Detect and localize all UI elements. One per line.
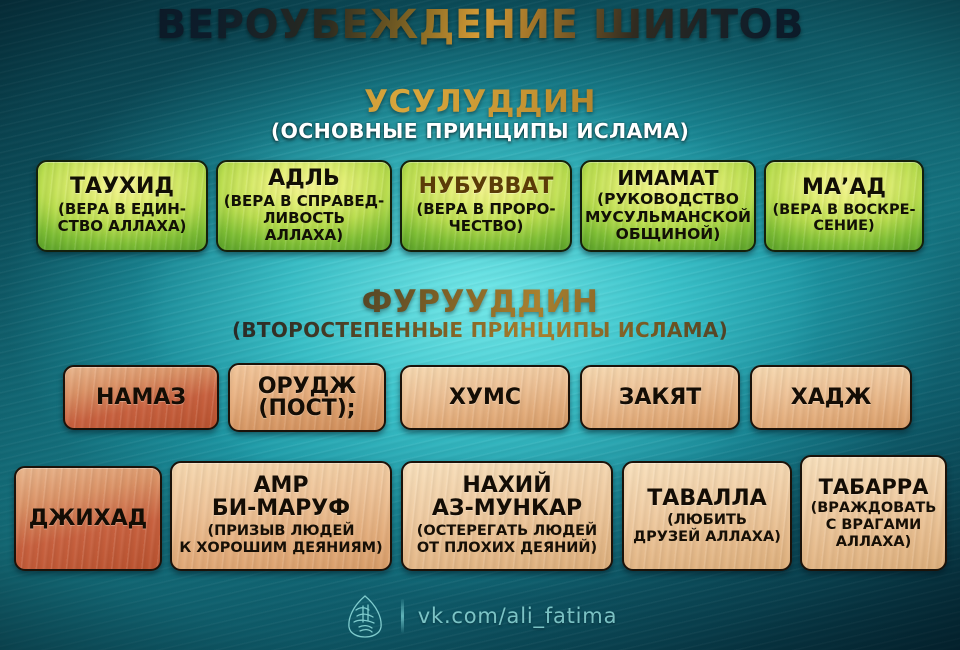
practice-box-hums[interactable]: ХУМС: [400, 365, 570, 430]
principle-detail: (ВЕРА В ВОСКРЕ- СЕНИЕ): [768, 202, 920, 235]
principle-name: ТАУХИД: [43, 176, 201, 199]
page-title: ВЕРОУБЕЖДЕНИЕ ШИИТОВ: [0, 2, 960, 48]
infographic-poster: ВЕРОУБЕЖДЕНИЕ ШИИТОВ УСУЛУДДИН (ОСНОВНЫЕ…: [0, 0, 960, 650]
practice-name: ОРУДЖ (ПОСТ);: [235, 376, 379, 420]
practice-detail: (ПРИЗЫВ ЛЮДЕЙ К ХОРОШИМ ДЕЯНИЯМ): [174, 523, 388, 557]
principle-detail: (ВЕРА В СПРАВЕД- ЛИВОСТЬ АЛЛАХА): [223, 193, 385, 244]
practice-box-tavalla[interactable]: ТАВАЛЛА (ЛЮБИТЬ ДРУЗЕЙ АЛЛАХА): [622, 461, 792, 571]
practice-name: ТАБАРРА: [804, 476, 943, 498]
practice-box-namaz[interactable]: НАМАЗ: [63, 365, 219, 430]
practice-name: ХУМС: [407, 386, 563, 409]
practice-box-amr-bi-maruf[interactable]: АМР БИ-МАРУФ (ПРИЗЫВ ЛЮДЕЙ К ХОРОШИМ ДЕЯ…: [170, 461, 392, 571]
footer-divider: [401, 599, 404, 633]
arabic-calligraphy-emblem-icon: [343, 594, 387, 638]
practice-detail: (ОСТЕРЕГАТЬ ЛЮДЕЙ ОТ ПЛОХИХ ДЕЯНИЙ): [405, 523, 609, 557]
practice-name: ХАДЖ: [757, 386, 905, 409]
principle-box-maad[interactable]: МА’АД (ВЕРА В ВОСКРЕ- СЕНИЕ): [764, 160, 924, 252]
practice-box-jihad[interactable]: ДЖИХАД: [14, 466, 162, 571]
practice-box-nahi-az-munkar[interactable]: НАХИЙ АЗ-МУНКАР (ОСТЕРЕГАТЬ ЛЮДЕЙ ОТ ПЛО…: [401, 461, 613, 571]
section-heading-furuuddin: ФУРУУДДИН: [0, 284, 960, 320]
practice-name: НАМАЗ: [70, 386, 212, 409]
practice-box-oruj[interactable]: ОРУДЖ (ПОСТ);: [228, 363, 386, 432]
practice-name: ДЖИХАД: [21, 507, 155, 530]
principle-name: МА’АД: [768, 177, 920, 200]
principle-box-nubuvvat[interactable]: НУБУВВАТ (ВЕРА В ПРОРО- ЧЕСТВО): [400, 160, 572, 252]
principle-name: АДЛЬ: [223, 168, 385, 191]
section-subheading-usuluddin: (ОСНОВНЫЕ ПРИНЦИПЫ ИСЛАМА): [0, 119, 960, 143]
section-heading-usuluddin: УСУЛУДДИН: [0, 84, 960, 120]
practice-detail: (ВРАЖДОВАТЬ С ВРАГАМИ АЛЛАХА): [804, 500, 943, 550]
section-subheading-furuuddin: (ВТОРОСТЕПЕННЫЕ ПРИНЦИПЫ ИСЛАМА): [0, 318, 960, 342]
principle-name: НУБУВВАТ: [407, 176, 565, 199]
principle-name: ИМАМАТ: [584, 168, 752, 189]
footer: vk.com/ali_fatima: [0, 594, 960, 638]
practice-name: ТАВАЛЛА: [626, 487, 788, 510]
principle-box-tauhid[interactable]: ТАУХИД (ВЕРА В ЕДИН- СТВО АЛЛАХА): [36, 160, 208, 252]
practice-name: НАХИЙ АЗ-МУНКАР: [405, 475, 609, 521]
practice-box-hajj[interactable]: ХАДЖ: [750, 365, 912, 430]
footer-url: vk.com/ali_fatima: [418, 604, 617, 628]
practice-name: АМР БИ-МАРУФ: [174, 475, 388, 521]
practice-detail: (ЛЮБИТЬ ДРУЗЕЙ АЛЛАХА): [626, 512, 788, 546]
practice-name: ЗАКЯТ: [587, 386, 733, 409]
practice-box-tabarra[interactable]: ТАБАРРА (ВРАЖДОВАТЬ С ВРАГАМИ АЛЛАХА): [800, 455, 947, 571]
principle-detail: (ВЕРА В ЕДИН- СТВО АЛЛАХА): [43, 201, 201, 235]
principle-box-adl[interactable]: АДЛЬ (ВЕРА В СПРАВЕД- ЛИВОСТЬ АЛЛАХА): [216, 160, 392, 252]
principle-detail: (ВЕРА В ПРОРО- ЧЕСТВО): [407, 201, 565, 235]
principle-box-imamat[interactable]: ИМАМАТ (РУКОВОДСТВО МУСУЛЬМАНСКОЙ ОБЩИНО…: [580, 160, 756, 252]
principle-detail: (РУКОВОДСТВО МУСУЛЬМАНСКОЙ ОБЩИНОЙ): [584, 191, 752, 244]
practice-box-zakat[interactable]: ЗАКЯТ: [580, 365, 740, 430]
